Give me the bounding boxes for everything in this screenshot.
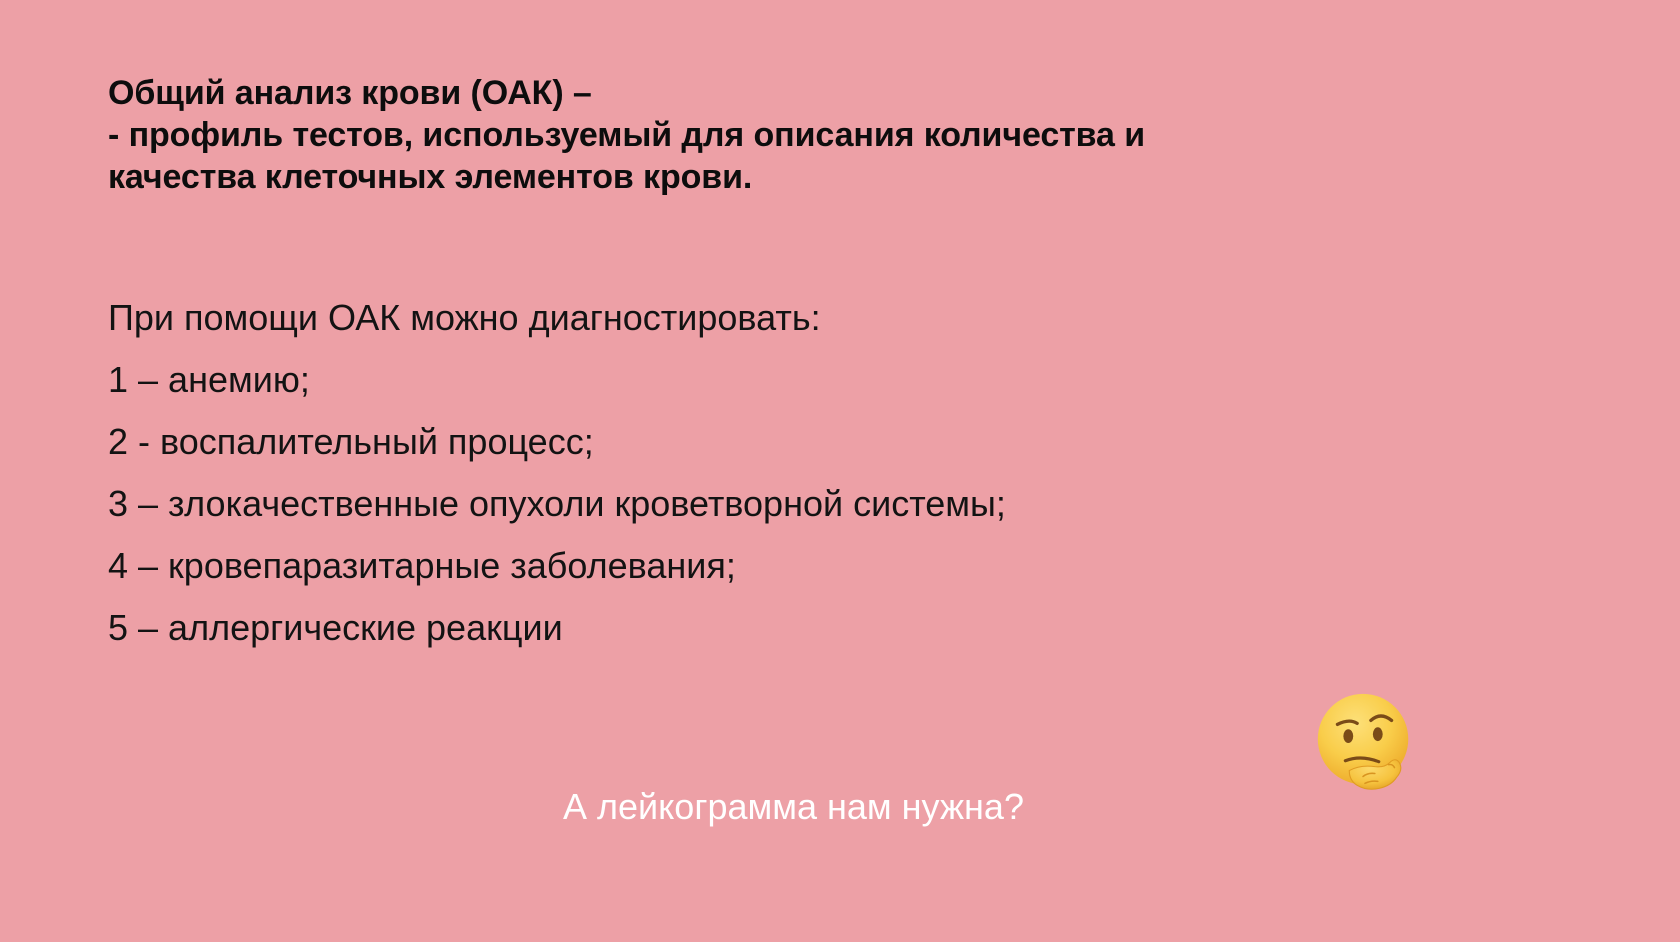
list-item: 3 – злокачественные опухоли кроветворной… — [108, 482, 1408, 526]
list-item: 5 – аллергические реакции — [108, 606, 1408, 650]
question-text: А лейкограмма нам нужна? — [563, 785, 1024, 829]
slide-title-block: Общий анализ крови (ОАК) – - профиль тес… — [108, 72, 1368, 198]
list-item: 4 – кровепаразитарные заболевания; — [108, 544, 1408, 588]
list-item: 1 – анемию; — [108, 358, 1408, 402]
body-intro-text: При помощи ОАК можно диагностировать: — [108, 296, 1408, 340]
slide-body-block: При помощи ОАК можно диагностировать: 1 … — [108, 296, 1408, 650]
title-line-2: - профиль тестов, используемый для описа… — [108, 114, 1368, 156]
title-line-3: качества клеточных элементов крови. — [108, 156, 1368, 198]
list-item: 2 - воспалительный процесс; — [108, 420, 1408, 464]
title-line-1: Общий анализ крови (ОАК) – — [108, 72, 1368, 114]
thinking-face-emoji — [1306, 686, 1424, 804]
slide-canvas: Общий анализ крови (ОАК) – - профиль тес… — [0, 0, 1680, 942]
